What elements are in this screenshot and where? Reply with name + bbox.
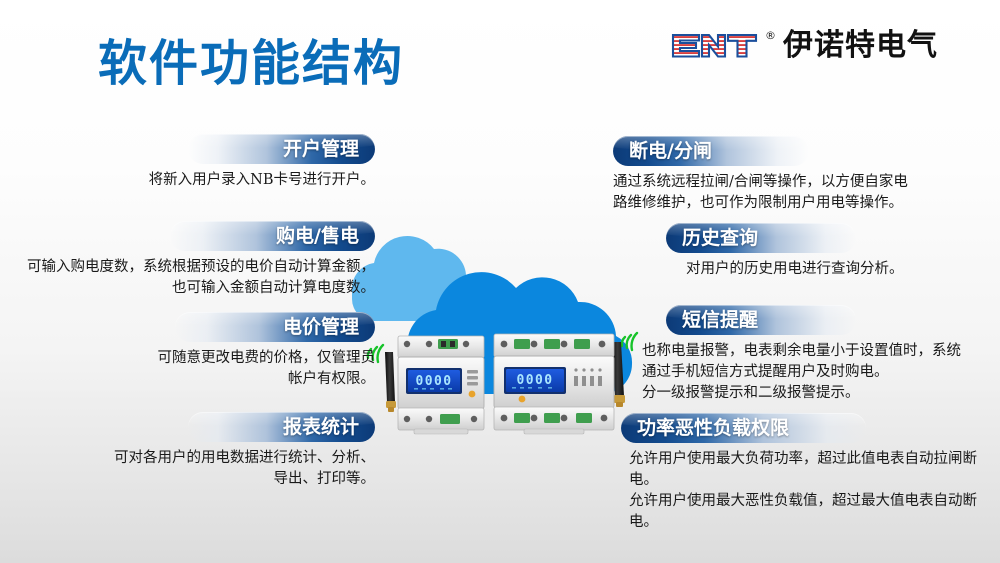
din-rail-meters-group: 0000 [354,324,654,444]
wifi-signal-icon-2 [622,333,637,350]
feature-account-opening[interactable]: 开户管理 将新入用户录入NB卡号进行开户。 [20,134,375,191]
slide-canvas: 软件功能结构 ® 伊诺特电气 [0,0,1000,563]
antenna-1 [385,352,396,412]
cloud-device-illustration: 0000 [330,196,670,446]
feature-malicious-load-power-limit[interactable]: 功率恶性负载权限 允许用户使用最大负荷功率，超过此值电表自动拉闸断电。 允许用户… [621,413,996,533]
feature-report-statistics[interactable]: 报表统计 可对各用户的用电数据进行统计、分析、 导出、打印等。 [20,412,375,490]
meter-2-lcd-value: 0000 [517,373,554,388]
feature-badge[interactable]: 报表统计 [188,412,375,442]
feature-description: 通过系统远程拉闸/合闸等操作，以方便自家电 路维修维护，也可作为限制用户用电等操… [613,172,983,214]
feature-label: 功率恶性负载权限 [637,419,789,438]
feature-badge[interactable]: 开户管理 [188,134,375,164]
feature-description: 对用户的历史用电进行查询分析。 [686,259,986,280]
feature-label: 开户管理 [283,140,359,159]
meter-device-2: 0000 [494,333,637,434]
meter-device-1: 0000 [368,336,484,434]
ent-wordmark-icon [671,31,763,61]
feature-badge[interactable]: 电价管理 [175,312,375,342]
feature-badge[interactable]: 购电/售电 [170,221,375,251]
feature-description: 可随意更改电费的价格，仅管理员 帐户有权限。 [20,348,375,390]
company-name: 伊诺特电气 [783,31,938,61]
feature-tariff-management[interactable]: 电价管理 可随意更改电费的价格，仅管理员 帐户有权限。 [20,312,375,390]
registered-trademark-icon: ® [765,29,776,42]
feature-label: 购电/售电 [276,227,359,246]
page-title: 软件功能结构 [98,24,404,95]
feature-label: 历史查询 [682,229,758,248]
feature-badge[interactable]: 断电/分闸 [613,136,809,166]
feature-description: 可对各用户的用电数据进行统计、分析、 导出、打印等。 [20,448,375,490]
feature-sms-reminder[interactable]: 短信提醒 也称电量报警，电表剩余电量小于设置值时，系统 通过手机短信方式提醒用户… [666,305,986,404]
feature-badge[interactable]: 历史查询 [666,223,856,253]
feature-badge[interactable]: 功率恶性负载权限 [621,413,866,443]
ent-logo-mark: ® [671,31,776,61]
feature-history-query[interactable]: 历史查询 对用户的历史用电进行查询分析。 [666,223,986,280]
feature-power-cut-switch[interactable]: 断电/分闸 通过系统远程拉闸/合闸等操作，以方便自家电 路维修维护，也可作为限制… [613,136,983,214]
feature-label: 短信提醒 [682,311,758,330]
feature-description: 也称电量报警，电表剩余电量小于设置值时，系统 通过手机短信方式提醒用户及时购电。… [642,341,986,404]
feature-badge[interactable]: 短信提醒 [666,305,856,335]
feature-description: 可输入购电度数，系统根据预设的电价自动计算金额， 也可输入金额自动计算电度数。 [20,257,375,299]
feature-label: 断电/分闸 [629,142,712,161]
feature-description: 允许用户使用最大负荷功率，超过此值电表自动拉闸断电。 允许用户使用最大恶性负载值… [629,449,996,533]
brand-logo: ® 伊诺特电气 [671,31,938,61]
feature-label: 电价管理 [283,318,359,337]
meter-1-lcd-value: 0000 [416,374,453,389]
feature-power-purchase-sale[interactable]: 购电/售电 可输入购电度数，系统根据预设的电价自动计算金额， 也可输入金额自动计… [20,221,375,299]
feature-description: 将新入用户录入NB卡号进行开户。 [20,170,375,191]
feature-label: 报表统计 [283,418,359,437]
